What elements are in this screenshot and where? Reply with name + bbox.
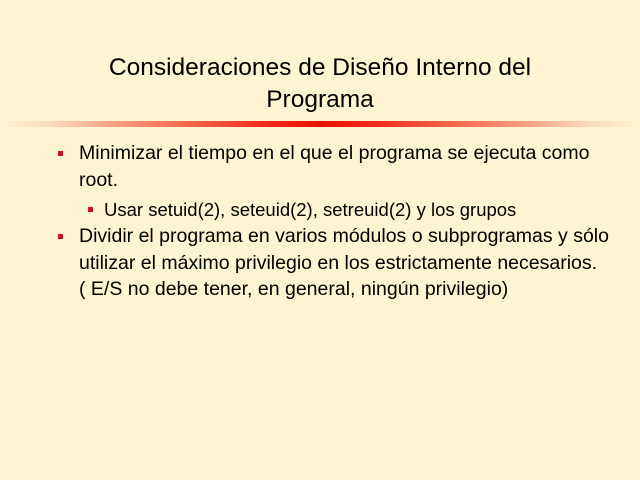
bullet-item-text: Minimizar el tiempo en el que el program… [79, 140, 618, 193]
slide-title-line-1: Consideraciones de Diseño Interno del [0, 52, 640, 84]
slide-title-line-2: Programa [0, 84, 640, 116]
sub-bullet-item: Usar setuid(2), seteuid(2), setreuid(2) … [0, 197, 640, 223]
bullet-item: Dividir el programa en varios módulos o … [0, 223, 640, 303]
slide-title: Consideraciones de Diseño Interno del Pr… [0, 52, 640, 116]
square-bullet-icon [88, 207, 93, 212]
square-bullet-icon [58, 234, 63, 239]
title-divider-rule [0, 121, 640, 127]
square-bullet-icon [58, 151, 63, 156]
bullet-item-text: Dividir el programa en varios módulos o … [79, 223, 618, 303]
bullet-item: Minimizar el tiempo en el que el program… [0, 140, 640, 193]
sub-bullet-item-text: Usar setuid(2), seteuid(2), setreuid(2) … [104, 197, 618, 223]
presentation-slide: Consideraciones de Diseño Interno del Pr… [0, 0, 640, 480]
slide-body: Minimizar el tiempo en el que el program… [0, 140, 640, 303]
